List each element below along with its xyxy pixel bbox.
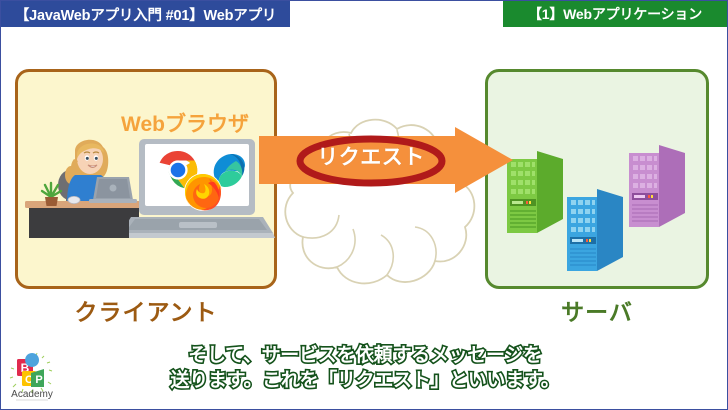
client-caption: クライアント xyxy=(15,293,277,327)
header-left-title: 【JavaWebアプリ入門 #01】Webアプリ xyxy=(1,1,290,27)
server-towers-illustration xyxy=(501,141,693,273)
header-left-text: 【JavaWebアプリ入門 #01】Webアプリ xyxy=(15,4,276,25)
person-at-desk-illustration xyxy=(25,129,143,241)
narration-line-1: そして、サービスを依頼するメッセージを xyxy=(1,343,728,368)
purple-server-tower xyxy=(629,145,685,227)
logo-wordmark: Academy xyxy=(11,389,53,400)
blue-server-tower xyxy=(567,189,623,271)
narration-caption: そして、サービスを依頼するメッセージを 送ります。これを「リクエスト」といいます… xyxy=(1,343,728,393)
bcp-academy-logo: B C P Academy xyxy=(6,351,58,405)
logo-letter-p: P xyxy=(35,374,42,386)
header-right-text: 【1】Webアプリケーション xyxy=(528,4,702,24)
server-caption: サーバ xyxy=(485,293,709,327)
firefox-logo xyxy=(184,173,222,211)
browser-label: Webブラウザ xyxy=(121,108,249,138)
narration-line-2: 送ります。これを「リクエスト」といいます。 xyxy=(1,368,728,393)
green-server-tower xyxy=(507,147,563,235)
laptop-with-browsers-illustration xyxy=(129,139,275,241)
slide-root: 【JavaWebアプリ入門 #01】Webアプリ 【1】Webアプリケーション xyxy=(0,0,728,410)
header-right-section: 【1】Webアプリケーション xyxy=(503,1,727,27)
request-label: リクエスト xyxy=(301,141,441,171)
